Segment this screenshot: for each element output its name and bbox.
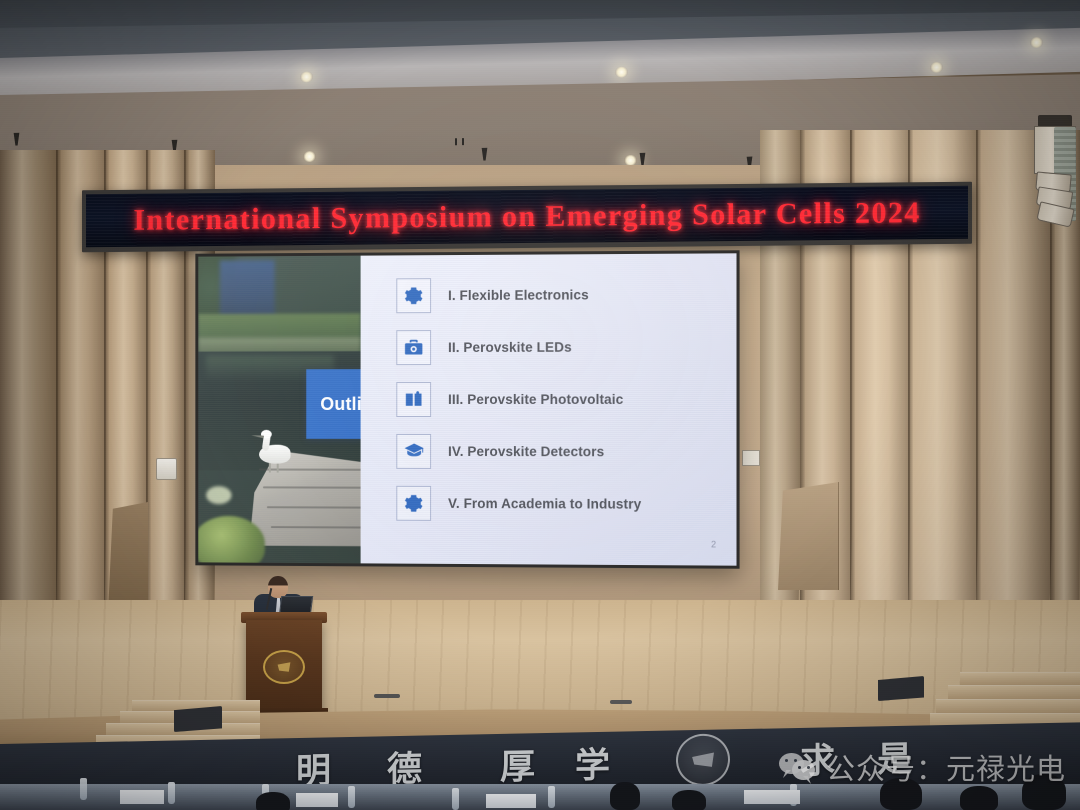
open-book-icon — [396, 382, 431, 417]
name-card — [744, 790, 800, 804]
left-wall-door-alcove — [108, 502, 148, 614]
channel-watermark: 公众号：元禄光电 — [779, 746, 1066, 788]
outline-item-label: V. From Academia to Industry — [448, 495, 641, 511]
motto-character: 厚 — [500, 738, 535, 790]
university-seal-icon — [676, 733, 730, 786]
water-bottle — [168, 782, 175, 804]
outline-item-label: III. Perovskite Photovoltaic — [448, 391, 623, 406]
name-card — [120, 790, 164, 804]
stage-monitor-speaker — [174, 706, 222, 732]
floor-cable — [374, 694, 400, 698]
ceiling-pendant-fixture — [12, 133, 21, 146]
wall-panel-small — [742, 450, 760, 466]
gear-icon — [396, 278, 431, 313]
ceiling-spotlight — [303, 151, 316, 162]
ceiling-pendant-fixture — [638, 153, 647, 166]
name-card — [486, 794, 536, 808]
presenter-head — [268, 576, 288, 598]
wall-control-panel — [156, 458, 177, 480]
projection-screen: Outline I. Flexible Electronics — [195, 250, 739, 568]
line-array-speaker — [1034, 115, 1076, 243]
slide-page-number: 2 — [711, 539, 716, 549]
outline-item: V. From Academia to Industry — [396, 477, 736, 530]
attendee-silhouette — [610, 782, 640, 810]
ceiling-pendant-fixture — [480, 148, 489, 161]
gear-icon — [396, 485, 431, 520]
slide-outline-list: I. Flexible Electronics II. Perovskite L… — [361, 253, 737, 565]
briefcase-camera-icon — [396, 330, 431, 365]
led-banner-text: International Symposium on Emerging Sola… — [133, 196, 920, 238]
motto-character: 学 — [575, 736, 610, 788]
outline-item: I. Flexible Electronics — [396, 267, 736, 321]
auditorium-photo: International Symposium on Emerging Sola… — [0, 0, 1080, 810]
attendee-silhouette — [256, 792, 290, 810]
attendee-silhouette — [960, 786, 998, 810]
watermark-text: 公众号：元禄光电 — [826, 746, 1066, 788]
outline-item-label: IV. Perovskite Detectors — [448, 443, 604, 458]
university-emblem-icon — [263, 650, 305, 684]
right-wall-door — [778, 482, 839, 590]
name-card — [296, 793, 338, 807]
floor-cable — [610, 700, 632, 704]
stage-monitor-speaker — [878, 676, 924, 701]
water-bottle — [80, 778, 87, 800]
led-banner-display: International Symposium on Emerging Sola… — [82, 182, 972, 253]
attendee-silhouette — [672, 790, 706, 810]
outline-item: III. Perovskite Photovoltaic — [396, 373, 736, 426]
presentation-slide: Outline I. Flexible Electronics — [198, 253, 736, 565]
outline-item-label: II. Perovskite LEDs — [448, 339, 572, 354]
outline-item-label: I. Flexible Electronics — [448, 287, 589, 303]
outline-item: II. Perovskite LEDs — [396, 320, 736, 373]
water-bottle — [548, 786, 555, 808]
water-bottle — [452, 788, 459, 810]
water-bottle — [348, 786, 355, 808]
graduation-cap-icon — [396, 433, 431, 468]
wechat-icon — [779, 751, 817, 783]
outline-item: IV. Perovskite Detectors — [396, 425, 736, 478]
